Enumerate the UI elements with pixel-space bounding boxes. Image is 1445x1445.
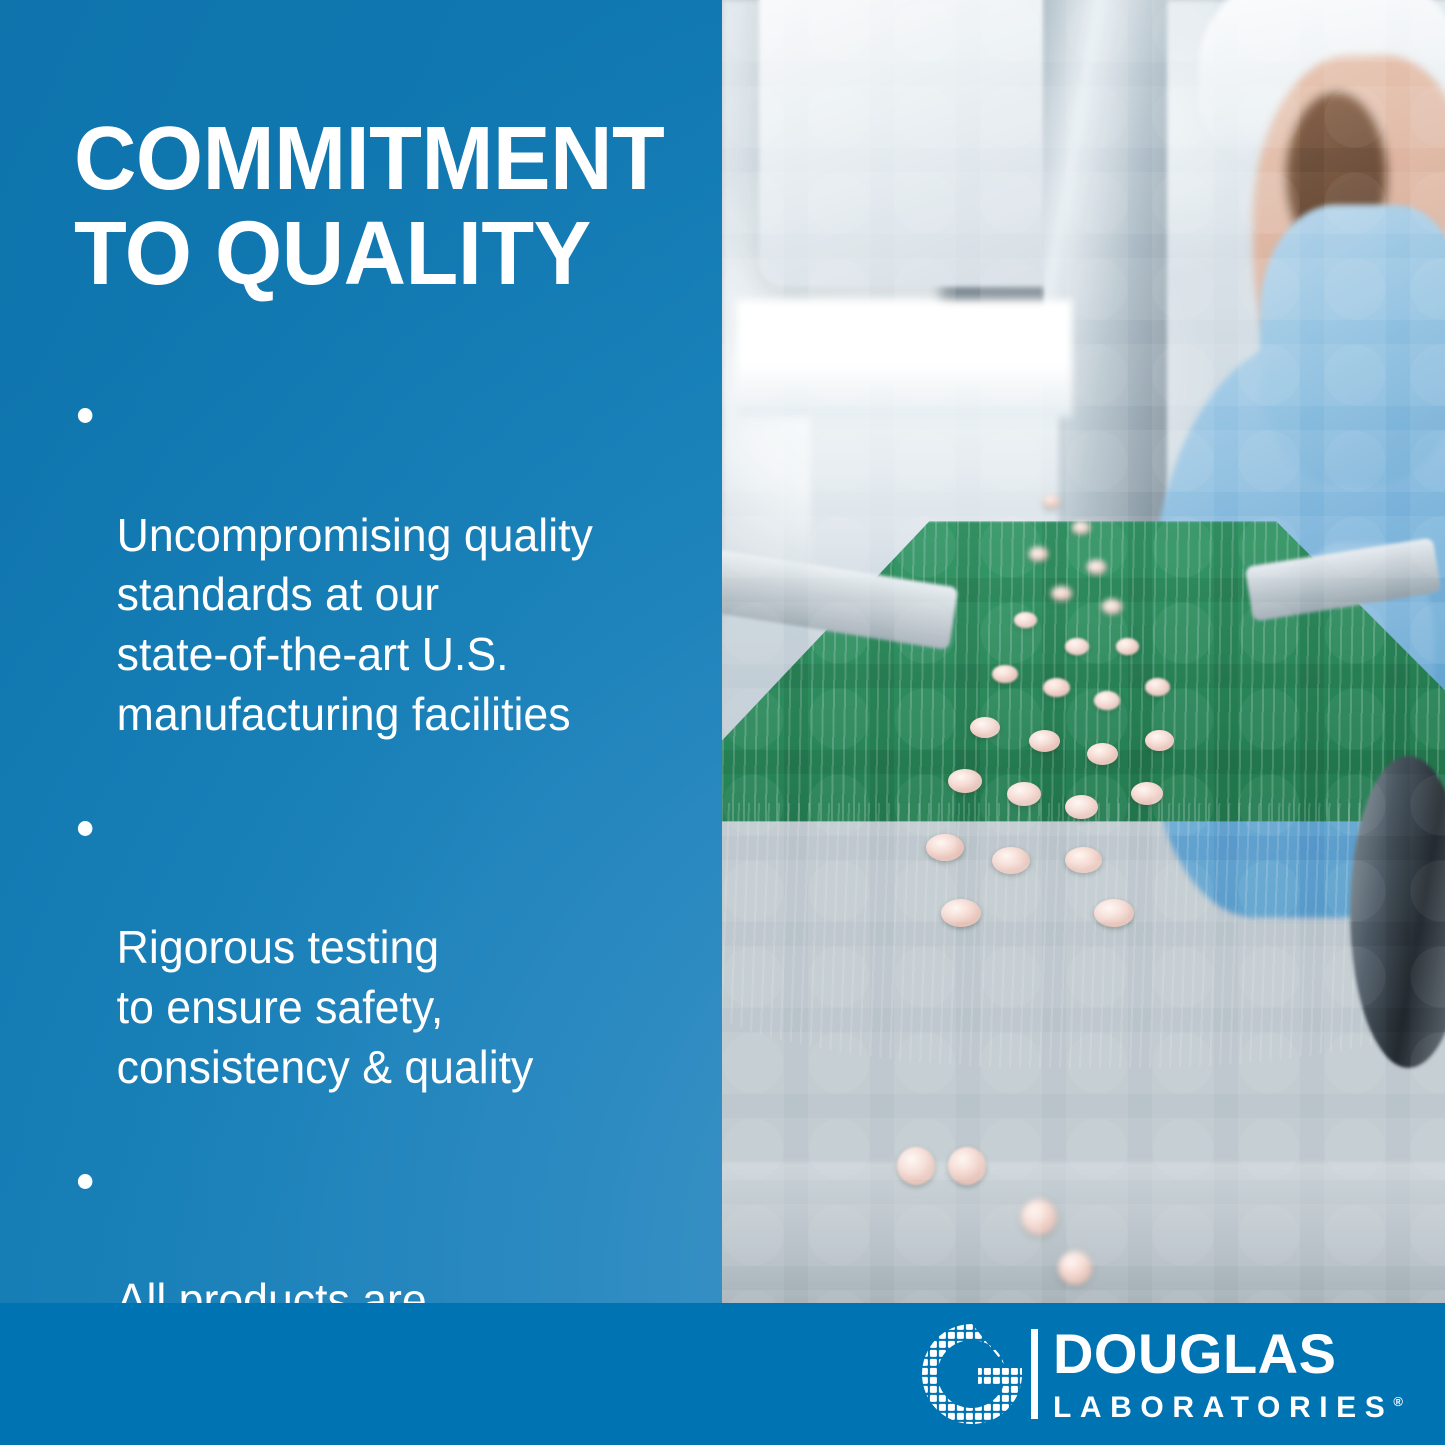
worker-face-mask [1260,205,1445,486]
tablet [1145,730,1174,751]
page-title: COMMITMENT TO QUALITY [74,112,708,303]
tablet [1145,678,1170,696]
commitment-to-quality-poster: COMMITMENT TO QUALITY Uncompromising qua… [0,0,1445,1445]
bullet-dot-icon [78,1174,93,1189]
benefits-list: Uncompromising quality standards at our … [74,386,734,1391]
brand-name: DOUGLAS [1053,1326,1403,1382]
content-column: COMMITMENT TO QUALITY Uncompromising qua… [0,0,740,1303]
manufacturing-photo-panel [722,0,1445,1303]
ceiling-light [737,300,1073,417]
brand-subtitle: LABORATORIES® [1053,1393,1403,1423]
tablet [897,1147,935,1185]
tablet [1087,743,1118,765]
grid-g-mark-icon [920,1322,1024,1426]
tablet [926,834,964,861]
photo-image [722,0,1445,1303]
brand-subtitle-text: LABORATORIES [1053,1391,1393,1424]
conveyor-belt-front-sheen [722,803,1445,1069]
tablet [1029,547,1048,561]
list-item: Uncompromising quality standards at our … [74,386,714,745]
tablet [1065,795,1098,819]
tablet [1102,599,1122,614]
tablet [1058,1251,1092,1285]
tablet [1029,730,1060,752]
tablet [1043,678,1070,697]
registered-trademark-icon: ® [1393,1394,1403,1409]
footer-bar: DOUGLAS LABORATORIES® [0,1303,1445,1445]
tablet [992,665,1018,683]
tablet [1131,782,1163,805]
logo-wordmark: DOUGLAS LABORATORIES® [1053,1326,1403,1423]
photo-scene [722,0,1445,1303]
tablet [1065,847,1102,873]
tablet [970,717,1000,738]
tablet [1051,586,1072,601]
photo-arc-clip [722,0,1445,1303]
list-item-text: Uncompromising quality standards at our … [117,509,593,740]
logo-divider [1031,1329,1038,1419]
tablet [1021,1199,1057,1235]
bullet-dot-icon [78,821,93,836]
tablet [992,847,1030,874]
list-item-text: Rigorous testing to ensure safety, consi… [117,921,534,1093]
tablet [948,1147,986,1185]
tablet [948,769,982,793]
list-item: Rigorous testing to ensure safety, consi… [74,799,714,1098]
tablet [941,899,981,927]
tablet [1094,691,1120,710]
tablet [1007,782,1041,806]
bullet-dot-icon [78,408,93,423]
douglas-laboratories-logo: DOUGLAS LABORATORIES® [920,1320,1403,1428]
